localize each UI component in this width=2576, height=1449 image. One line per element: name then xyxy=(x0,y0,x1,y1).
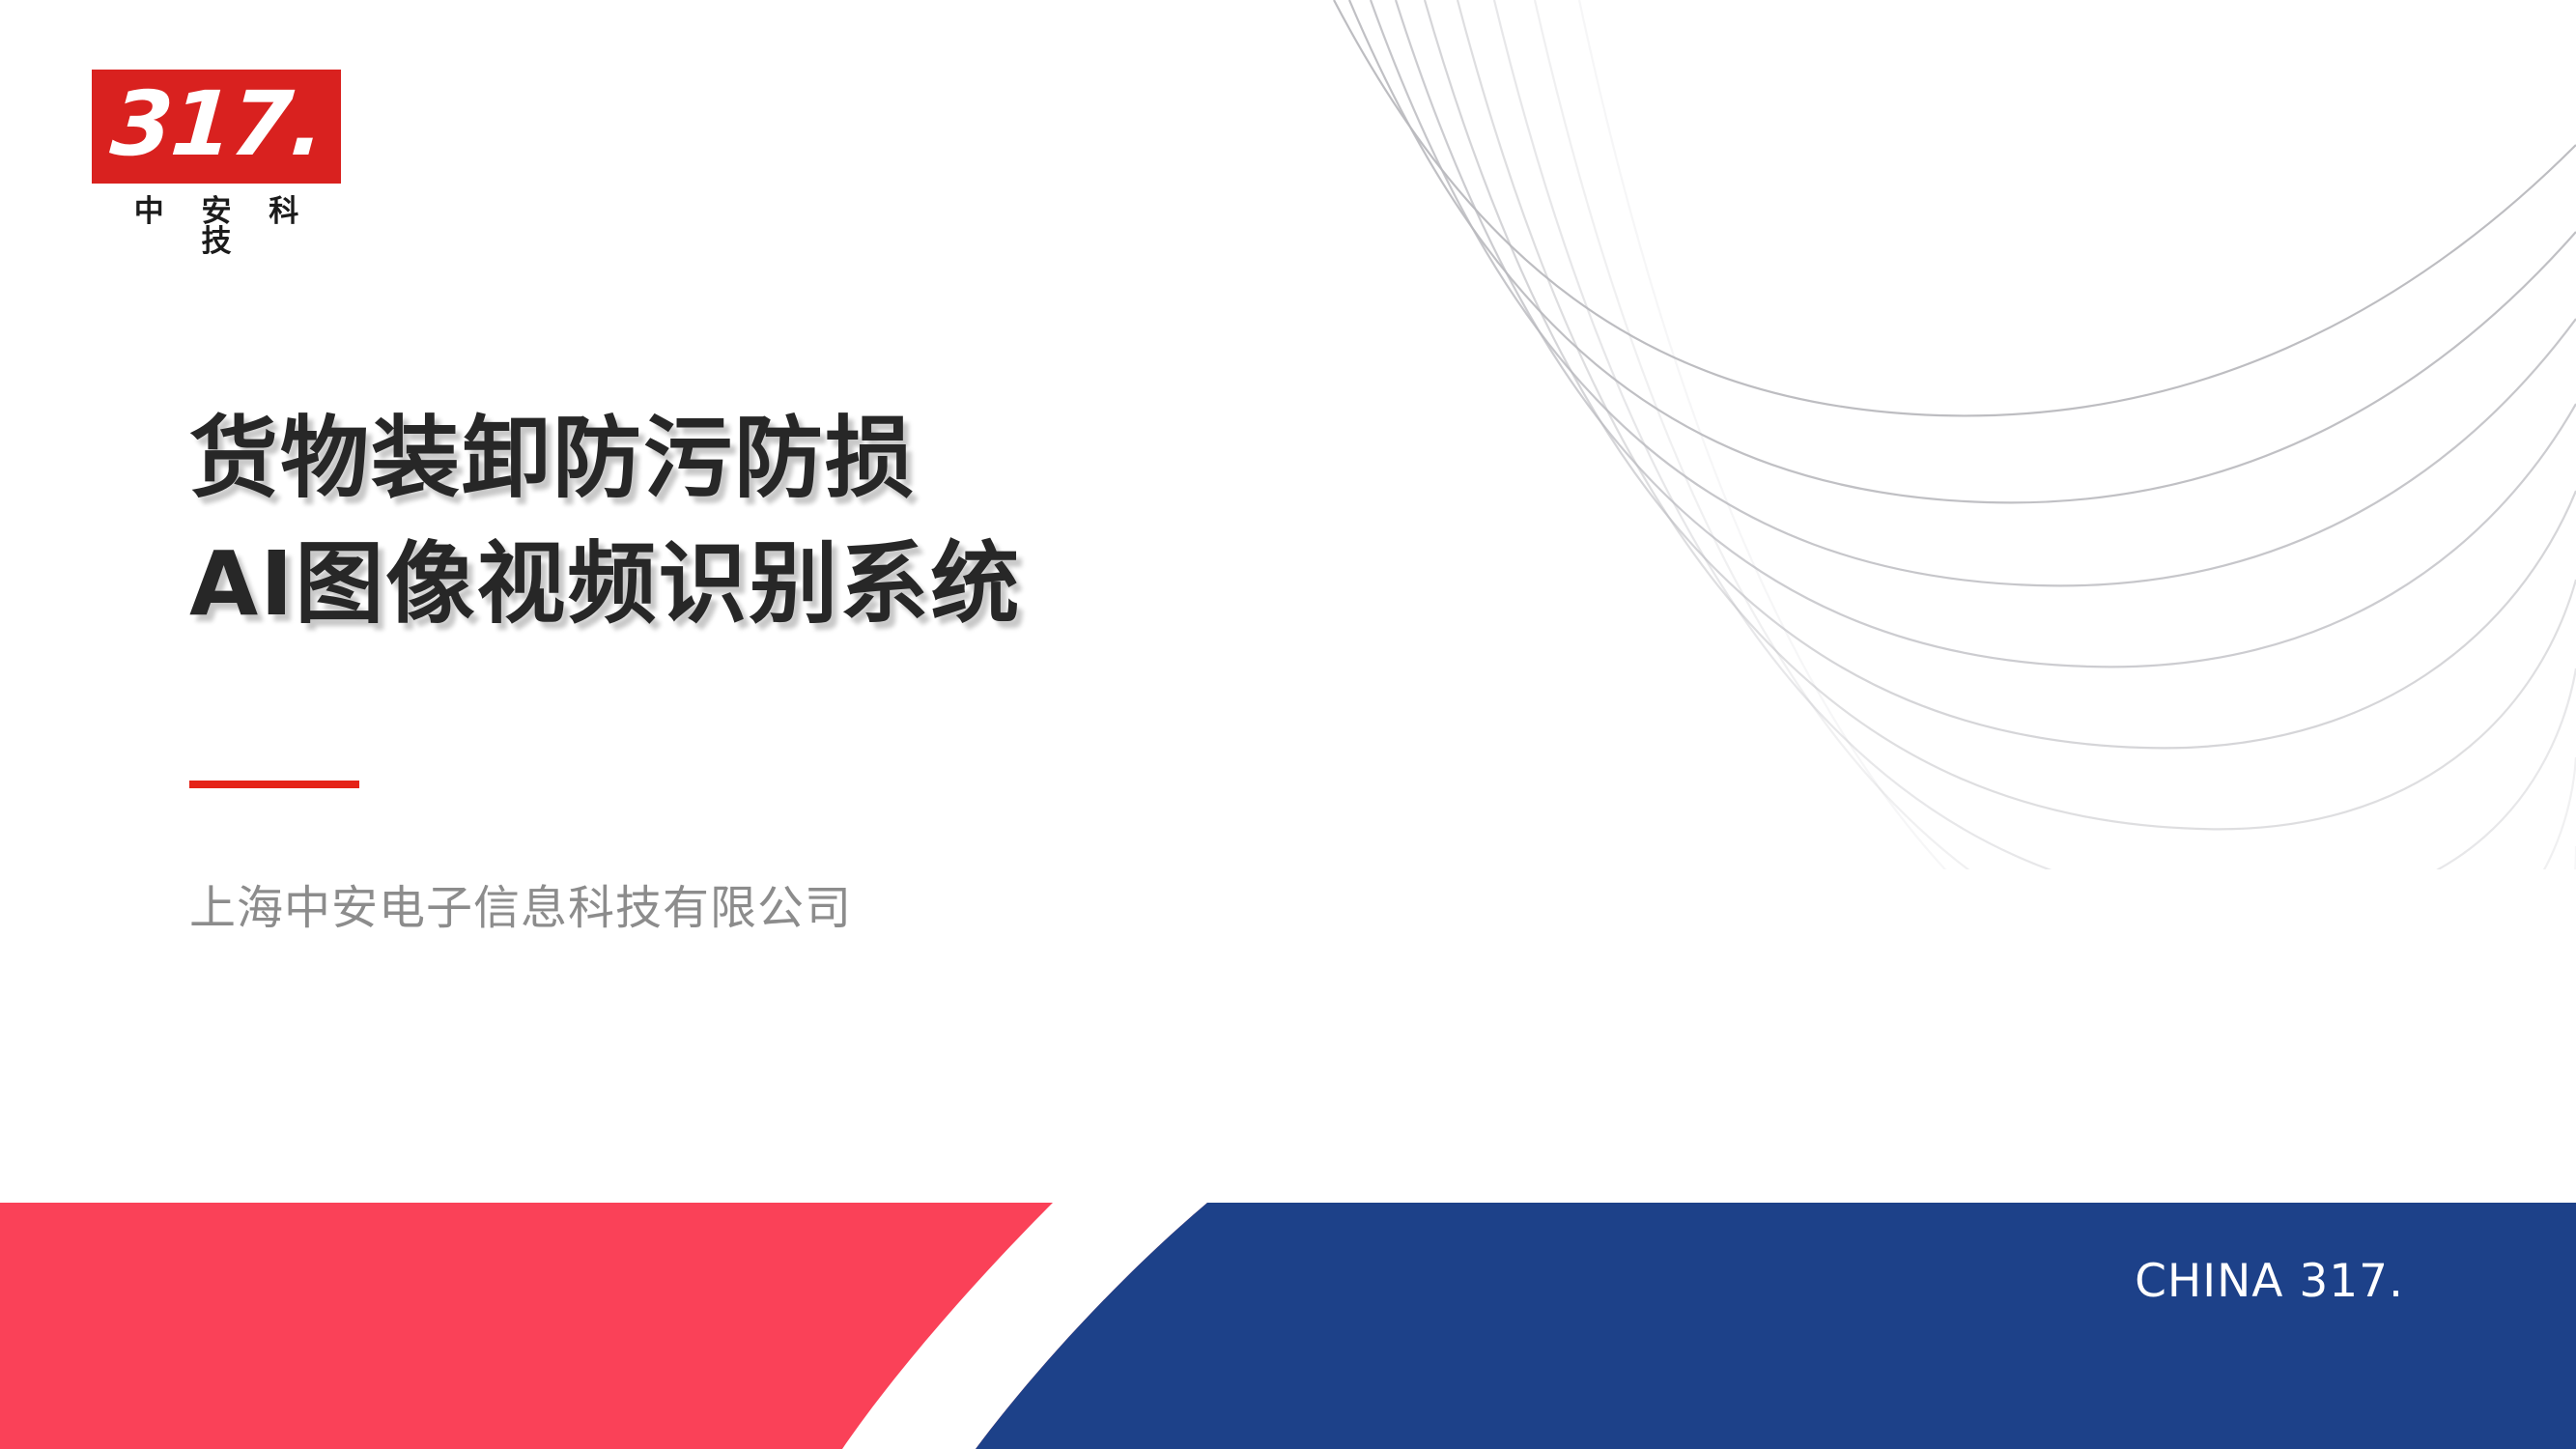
logo-mark-text: 317. xyxy=(107,80,325,169)
title-divider-rule xyxy=(189,781,359,788)
banner-navy-field xyxy=(976,1203,2576,1449)
logo-company-short-name: 中 安 科 技 xyxy=(92,197,341,257)
slide-title: 货物装卸防污防损 AI图像视频识别系统 xyxy=(189,396,1542,647)
company-logo: 317. 中 安 科 技 xyxy=(92,70,341,257)
bottom-banner: CHINA 317. xyxy=(0,1203,2576,1449)
slide-title-line-1: 货物装卸防污防损 xyxy=(189,396,1542,522)
presentation-title-slide: 317. 中 安 科 技 货物装卸防污防损 AI图像视频识别系统 上海中安电子信… xyxy=(0,0,2576,1449)
bottom-banner-shapes xyxy=(0,1203,2576,1449)
banner-brand-text: CHINA 317. xyxy=(2135,1259,2404,1304)
slide-title-line-2: AI图像视频识别系统 xyxy=(189,522,1542,647)
logo-mark-red-box: 317. xyxy=(92,70,341,184)
slide-subtitle-company-name: 上海中安电子信息科技有限公司 xyxy=(189,877,852,939)
